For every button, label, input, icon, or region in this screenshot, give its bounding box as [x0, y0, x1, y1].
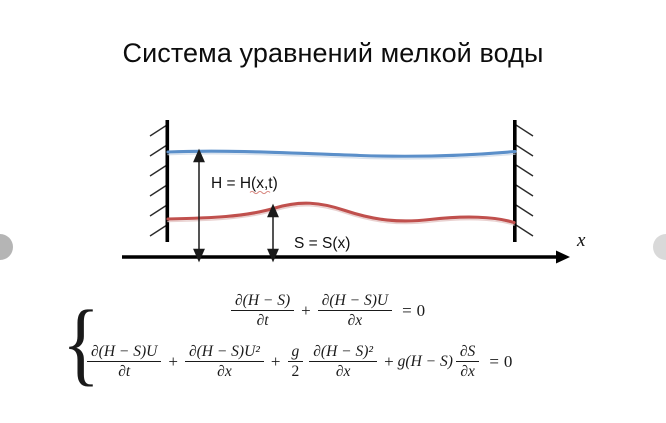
spellcheck-underline-icon — [250, 191, 270, 193]
x-axis-arrowhead — [556, 251, 570, 264]
eq2-rhs: 0 — [504, 352, 513, 372]
depth-label: H = H(x,t) — [211, 175, 278, 192]
equation-2: ∂(H − S)U ∂t + ∂(H − S)U² ∂x + g 2 ∂(H −… — [84, 343, 512, 381]
eq2-operator-2: + — [267, 352, 285, 372]
H-measure-arrow — [194, 151, 204, 261]
left-wall-hatch-icon — [150, 125, 167, 236]
eq2-equals: = — [482, 352, 504, 372]
equation-1: ∂(H − S) ∂t + ∂(H − S)U ∂x = 0 — [228, 292, 425, 330]
page-title: Система уравнений мелкой воды — [0, 38, 666, 69]
eq1-operator-1: + — [297, 301, 315, 321]
equation-system: { ∂(H − S) ∂t + ∂(H − S)U ∂x = 0 ∂(H − S… — [0, 292, 666, 407]
eq2-term4: ∂S ∂x — [456, 343, 479, 381]
eq2-term4-prefix: g(H − S) — [398, 353, 453, 371]
eq2-term3: ∂(H − S)² ∂x — [309, 343, 377, 381]
bed-label: S = S(x) — [294, 235, 350, 252]
right-wall-hatch-icon — [516, 125, 533, 236]
left-wall — [166, 120, 170, 242]
eq2-operator-3: + — [380, 352, 398, 372]
eq1-term2: ∂(H − S)U ∂x — [318, 292, 392, 330]
eq1-rhs: 0 — [417, 301, 426, 321]
eq2-term1: ∂(H − S)U ∂t — [87, 343, 161, 381]
eq2-operator-1: + — [164, 352, 182, 372]
eq2-term2: ∂(H − S)U² ∂x — [185, 343, 264, 381]
eq2-coefficient: g 2 — [288, 343, 304, 381]
eq1-term1: ∂(H − S) ∂t — [231, 292, 294, 330]
x-axis-label: x — [576, 230, 586, 251]
S-measure-arrow — [268, 206, 278, 261]
eq1-equals: = — [395, 301, 417, 321]
shallow-water-diagram: H = H(x,t) S = S(x) x — [0, 105, 666, 280]
